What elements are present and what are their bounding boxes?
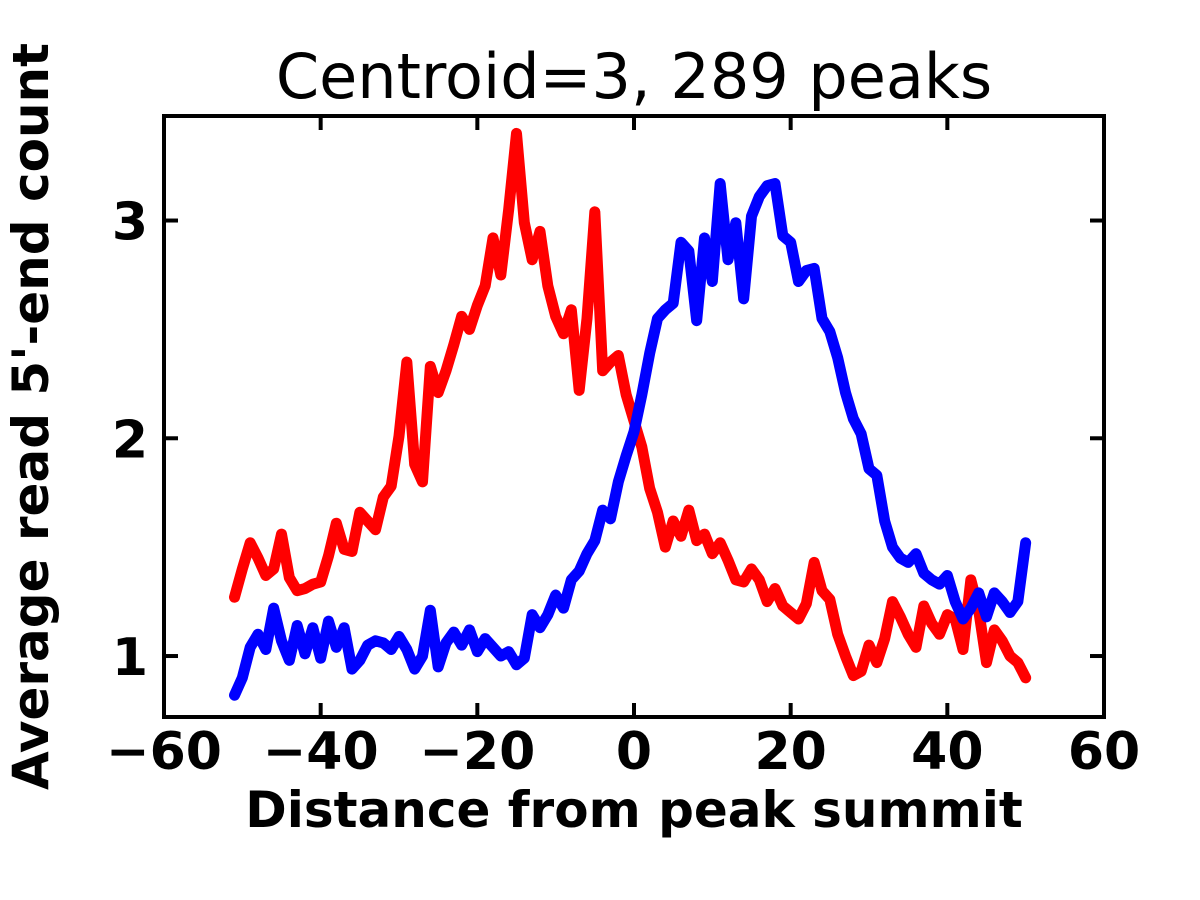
x-tick-label: 40 [911, 722, 983, 782]
y-tick-label: 2 [112, 410, 148, 470]
y-axis-label: Average read 5'-end count [2, 43, 60, 790]
line-chart: Centroid=3, 289 peaks −60−40−200204060 1… [0, 0, 1200, 900]
y-tick-label: 3 [112, 193, 148, 253]
x-tick-label: −60 [106, 722, 222, 782]
x-tick-label: 20 [754, 722, 826, 782]
x-tick-label: 60 [1068, 722, 1140, 782]
chart-figure: Centroid=3, 289 peaks −60−40−200204060 1… [0, 0, 1200, 900]
chart-title: Centroid=3, 289 peaks [276, 40, 992, 113]
y-tick-label: 1 [112, 628, 148, 688]
x-axis-label: Distance from peak summit [245, 781, 1023, 839]
x-tick-label: 0 [616, 722, 652, 782]
x-tick-label: −20 [419, 722, 535, 782]
x-tick-label: −40 [263, 722, 379, 782]
